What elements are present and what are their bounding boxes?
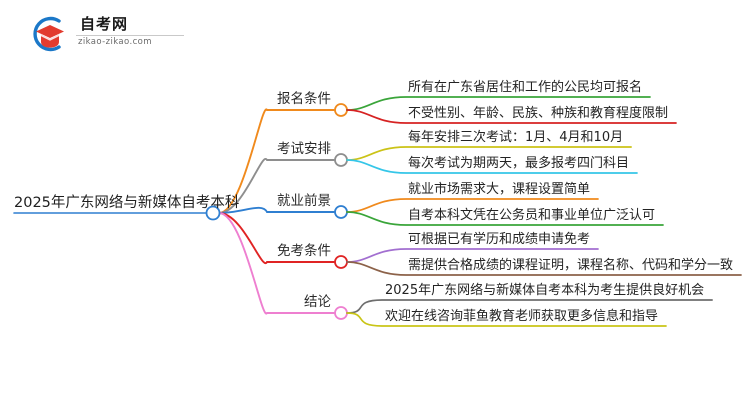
branch-3-item-1[interactable]: 就业市场需求大，课程设置简单 [408,183,590,196]
branch-label-2[interactable]: 考试安排 [277,143,331,157]
branch-label-1[interactable]: 报名条件 [277,93,331,107]
branch-5-item-2[interactable]: 欢迎在线咨询菲鱼教育老师获取更多信息和指导 [385,310,658,323]
branch-2-item-2[interactable]: 每次考试为期两天，最多报考四门科目 [408,157,629,170]
branch-label-4[interactable]: 免考条件 [277,245,331,259]
branch-3-item-2[interactable]: 自考本科文凭在公务员和事业单位广泛认可 [408,209,655,222]
branch-label-5[interactable]: 结论 [304,296,331,310]
branch-2-item-1[interactable]: 每年安排三次考试：1月、4月和10月 [408,131,623,144]
branch-4-item-1[interactable]: 可根据已有学历和成绩申请免考 [408,233,590,246]
branch-1-item-1[interactable]: 所有在广东省居住和工作的公民均可报名 [408,81,642,94]
branch-label-3[interactable]: 就业前景 [277,195,331,209]
mindmap-canvas: 自考网 zikao-zikao.com 2025年广东网络与新媒体自考本科报名条… [0,0,750,410]
branch-1-item-2[interactable]: 不受性别、年龄、民族、种族和教育程度限制 [408,107,668,120]
branch-4-item-2[interactable]: 需提供合格成绩的课程证明，课程名称、代码和学分一致 [408,259,733,272]
branch-5-item-1[interactable]: 2025年广东网络与新媒体自考本科为考生提供良好机会 [385,284,704,297]
root-node-label[interactable]: 2025年广东网络与新媒体自考本科 [14,196,239,211]
